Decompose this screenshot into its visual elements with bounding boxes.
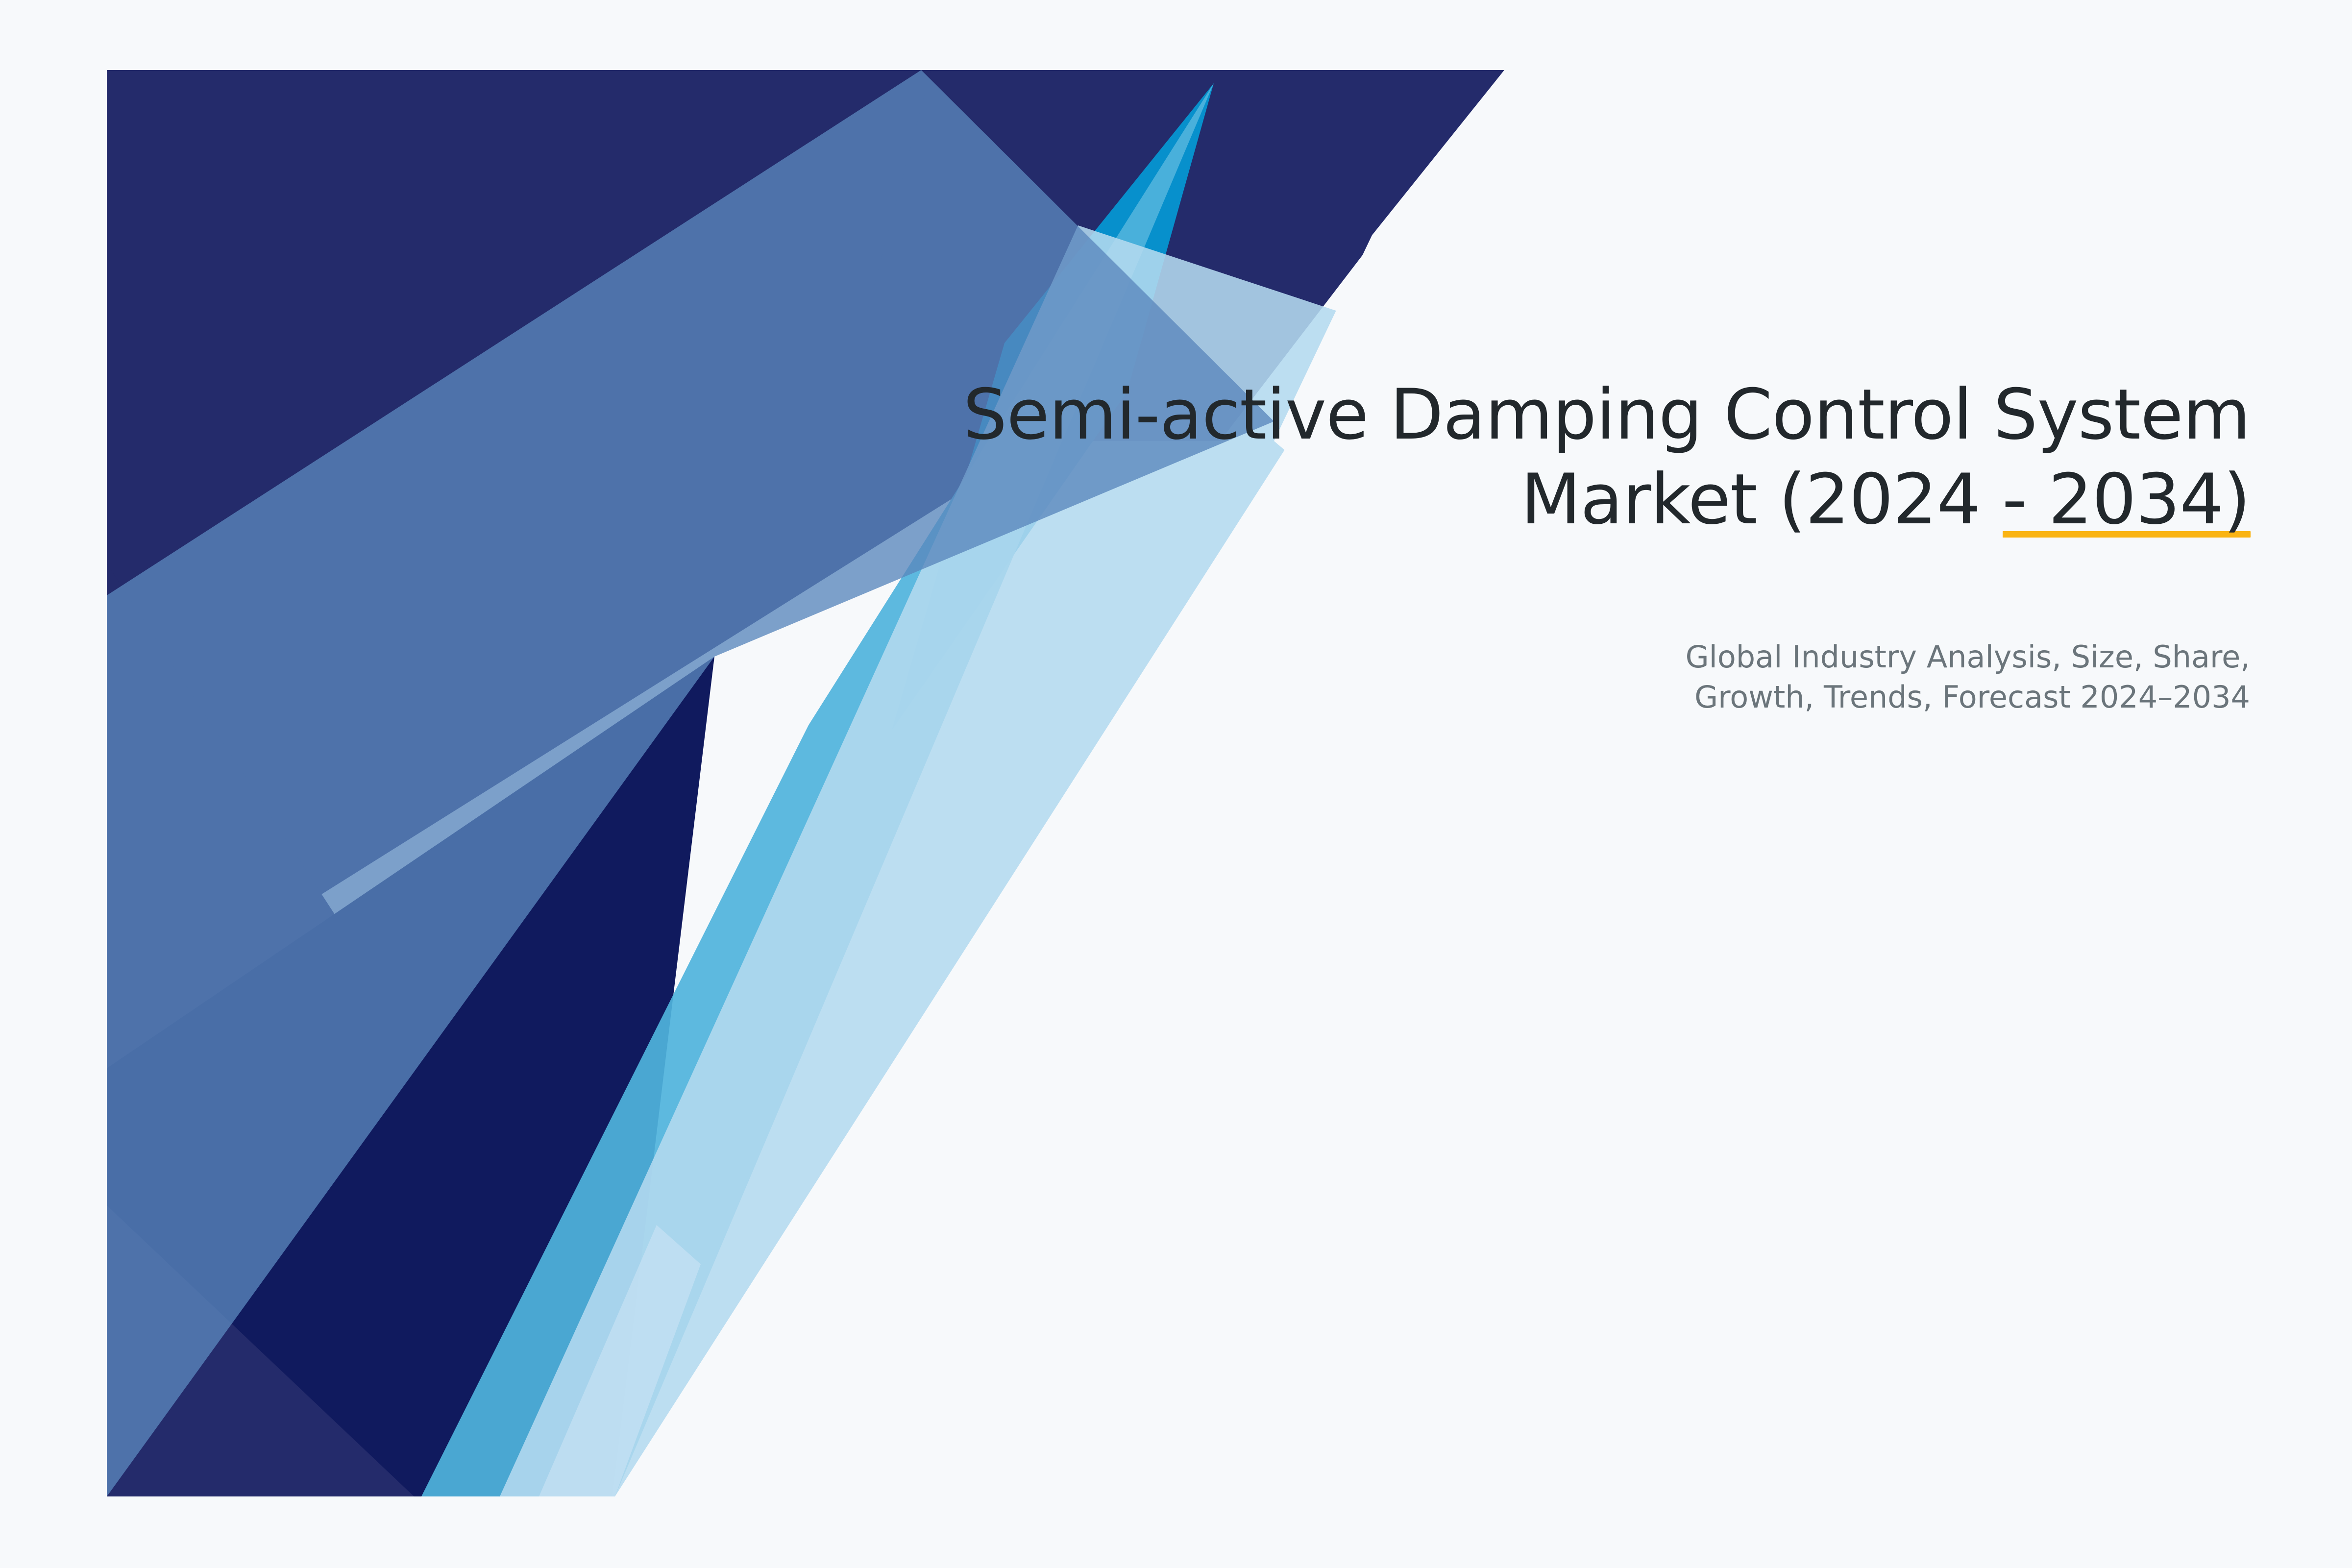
page-title-line-2: Market (2024 - 2034) <box>1521 459 2250 540</box>
page-subtitle-line-1: Global Industry Analysis, Size, Share, <box>1686 639 2250 675</box>
shape-sky-blue-band <box>421 83 1214 1496</box>
shape-deep-navy-spike <box>107 657 714 1496</box>
shape-slate-overlay <box>107 70 1274 1496</box>
shape-background-right-wedge-2 <box>1274 70 1504 637</box>
abstract-geometric-artwork <box>0 0 2352 1568</box>
page-subtitle: Global Industry Analysis, Size, Share, G… <box>1172 637 2250 718</box>
title-block: Semi-active Damping Control System Marke… <box>731 372 2250 542</box>
shape-pale-highlight <box>539 1225 701 1496</box>
shape-navy-lower-left <box>107 563 514 1496</box>
subtitle-block: Global Industry Analysis, Size, Share, G… <box>1172 637 2250 718</box>
cover-page: Semi-active Damping Control System Marke… <box>0 0 2352 1568</box>
page-title: Semi-active Damping Control System Marke… <box>731 372 2250 542</box>
page-subtitle-line-2: Growth, Trends, Forecast 2024–2034 <box>1694 679 2250 715</box>
page-title-line-1: Semi-active Damping Control System <box>963 374 2250 455</box>
artwork-clip-mask <box>0 0 2352 1568</box>
shape-background-right-wedge <box>615 70 1504 1496</box>
shape-navy-top-band <box>107 70 1504 1029</box>
